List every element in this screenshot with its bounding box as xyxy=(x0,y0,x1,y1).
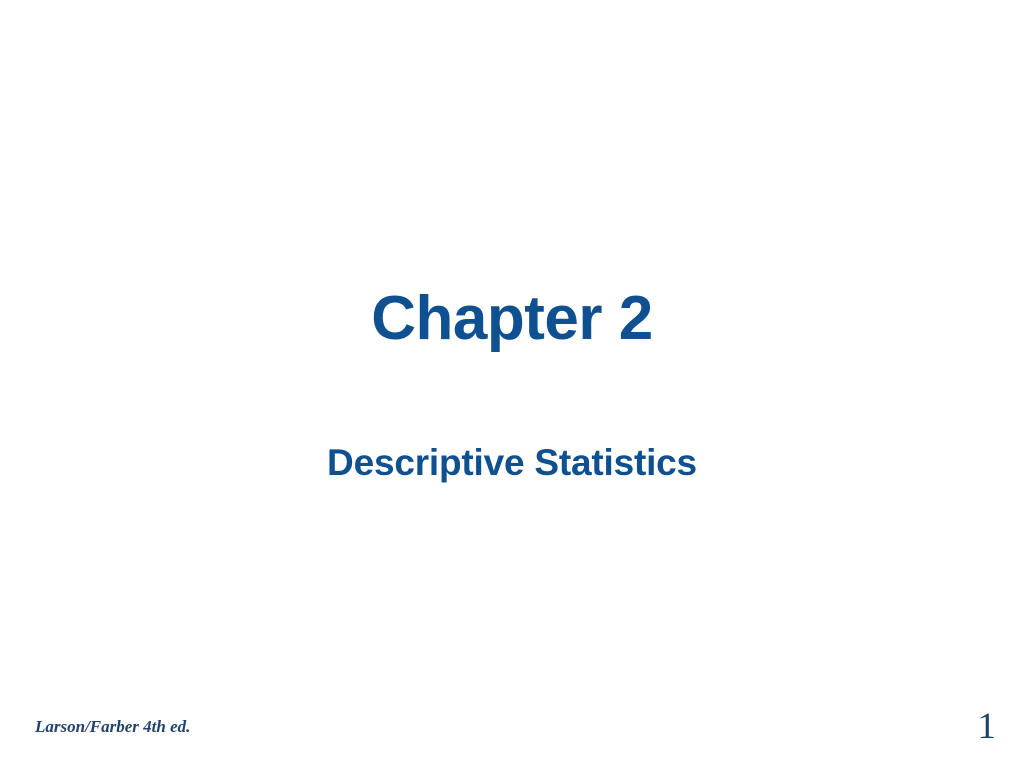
slide-canvas: Chapter 2 Descriptive Statistics Larson/… xyxy=(0,0,1024,768)
title-block: Chapter 2 xyxy=(0,286,1024,351)
footer-attribution: Larson/Farber 4th ed. xyxy=(35,718,190,735)
slide-footer: Larson/Farber 4th ed. 1 xyxy=(0,704,1024,768)
page-number: 1 xyxy=(978,708,997,745)
page-title: Chapter 2 xyxy=(0,286,1024,351)
page-subtitle: Descriptive Statistics xyxy=(0,443,1024,484)
subtitle-block: Descriptive Statistics xyxy=(0,443,1024,484)
